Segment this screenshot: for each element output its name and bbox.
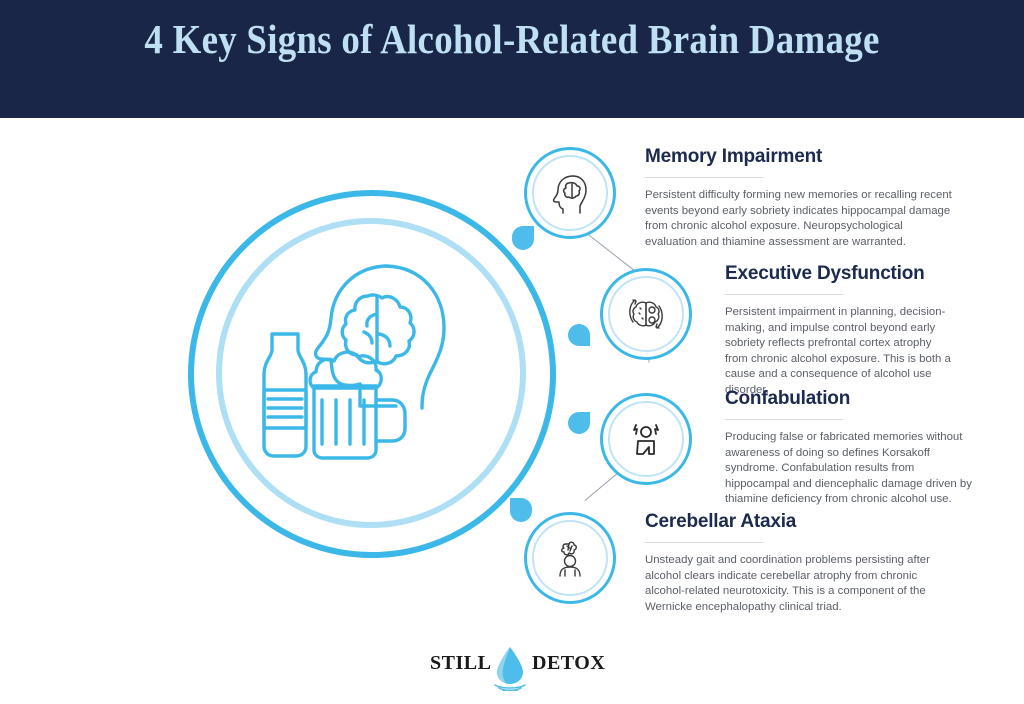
person-confusion-arrows-icon (624, 417, 668, 461)
petal-decoration (568, 412, 590, 434)
logo-word-detox: DETOX (532, 652, 605, 675)
sign-block-cerebellar: Cerebellar Ataxia Unsteady gait and coor… (645, 511, 945, 627)
sign-title: Confabulation (725, 388, 973, 410)
title-divider (725, 294, 843, 295)
head-memory-icon (548, 171, 592, 215)
sign-title: Memory Impairment (645, 146, 955, 168)
node-circle-memory[interactable] (524, 147, 616, 239)
sign-body: Persistent difficulty forming new memori… (645, 188, 955, 250)
hero-illustration (188, 190, 556, 558)
logo-word-still: STILL (430, 652, 491, 675)
node-circle-cerebellar[interactable] (524, 512, 616, 604)
brain-gears-cycle-icon (624, 292, 668, 336)
water-droplet-icon (492, 645, 528, 691)
title-divider (645, 542, 763, 543)
person-unsteady-scribble-icon (548, 536, 592, 580)
node-circle-executive[interactable] (600, 268, 692, 360)
title-divider (725, 419, 843, 420)
sign-body: Unsteady gait and coordination problems … (645, 553, 945, 615)
brand-logo: STILL DETOX (430, 645, 595, 693)
head-brain-alcohol-icon (236, 238, 508, 510)
sign-title: Cerebellar Ataxia (645, 511, 945, 533)
title-divider (645, 177, 763, 178)
page-title: 4 Key Signs of Alcohol-Related Brain Dam… (105, 16, 919, 63)
header-band: 4 Key Signs of Alcohol-Related Brain Dam… (0, 0, 1024, 118)
infographic-page: 4 Key Signs of Alcohol-Related Brain Dam… (0, 0, 1024, 704)
petal-decoration (568, 324, 590, 346)
sign-block-memory: Memory Impairment Persistent difficulty … (645, 146, 955, 262)
sign-title: Executive Dysfunction (725, 263, 955, 285)
sign-body: Persistent impairment in planning, decis… (725, 305, 955, 399)
sign-body: Producing false or fabricated memories w… (725, 430, 973, 508)
node-circle-confabulation[interactable] (600, 393, 692, 485)
sign-block-confabulation: Confabulation Producing false or fabrica… (725, 388, 973, 519)
